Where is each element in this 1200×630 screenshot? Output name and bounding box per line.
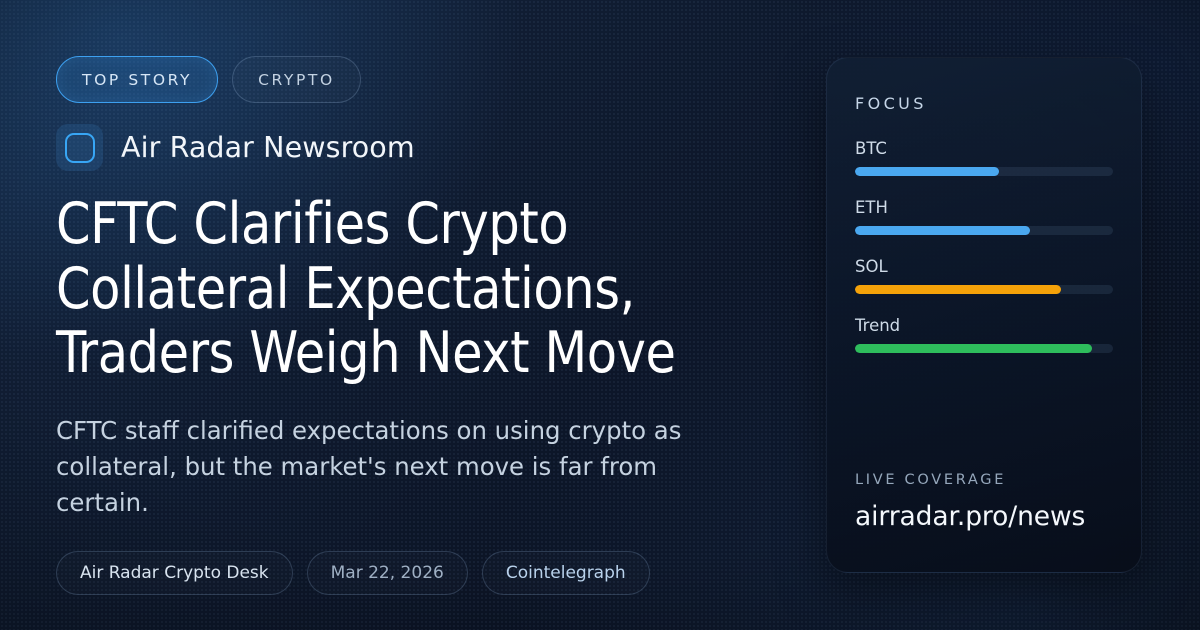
metric-btc-label: BTC [855,139,1113,158]
badge-crypto[interactable]: CRYPTO [232,56,361,103]
metric-sol-track [855,285,1113,294]
focus-panel-title: FOCUS [855,94,1113,113]
brand-row: Air Radar Newsroom [56,124,796,171]
chip-author[interactable]: Air Radar Crypto Desk [56,551,293,595]
metric-sol-label: SOL [855,257,1113,276]
site-url[interactable]: airradar.pro/news [855,501,1113,532]
metric-btc-track [855,167,1113,176]
live-coverage-label: LIVE COVERAGE [855,472,1113,488]
metric-btc: BTC [855,139,1113,176]
badge-crypto-label: CRYPTO [258,71,335,89]
chip-author-label: Air Radar Crypto Desk [80,563,269,583]
panel-footer: LIVE COVERAGE airradar.pro/news [855,472,1113,572]
focus-panel: FOCUS BTC ETH SOL Tren [826,57,1142,573]
metric-sol: SOL [855,257,1113,294]
brand-name: Air Radar Newsroom [121,131,415,164]
chip-source[interactable]: Cointelegraph [482,551,650,595]
headline: CFTC Clarifies Crypto Collateral Expecta… [56,192,770,386]
metric-trend-track [855,344,1113,353]
metric-eth-track [855,226,1113,235]
badge-row: TOP STORY CRYPTO [56,56,796,103]
content-column: TOP STORY CRYPTO Air Radar Newsroom CFTC… [56,56,796,595]
metric-eth: ETH [855,198,1113,235]
summary-text: CFTC staff clarified expectations on usi… [56,413,729,520]
metric-eth-fill [855,226,1030,235]
badge-top-story[interactable]: TOP STORY [56,56,218,103]
news-card-canvas: TOP STORY CRYPTO Air Radar Newsroom CFTC… [0,0,1200,630]
metric-sol-fill [855,285,1061,294]
logo-inner-shape [65,133,95,163]
metric-trend-label: Trend [855,316,1113,335]
metric-trend-fill [855,344,1092,353]
badge-top-story-label: TOP STORY [82,71,192,89]
chip-date-label: Mar 22, 2026 [331,563,444,583]
metric-trend: Trend [855,316,1113,353]
rounded-square-outline-icon [56,124,103,171]
meta-chip-row: Air Radar Crypto Desk Mar 22, 2026 Coint… [56,551,796,595]
metric-list: BTC ETH SOL Trend [855,139,1113,375]
chip-source-label: Cointelegraph [506,563,626,583]
metric-btc-fill [855,167,999,176]
metric-eth-label: ETH [855,198,1113,217]
chip-date[interactable]: Mar 22, 2026 [307,551,468,595]
